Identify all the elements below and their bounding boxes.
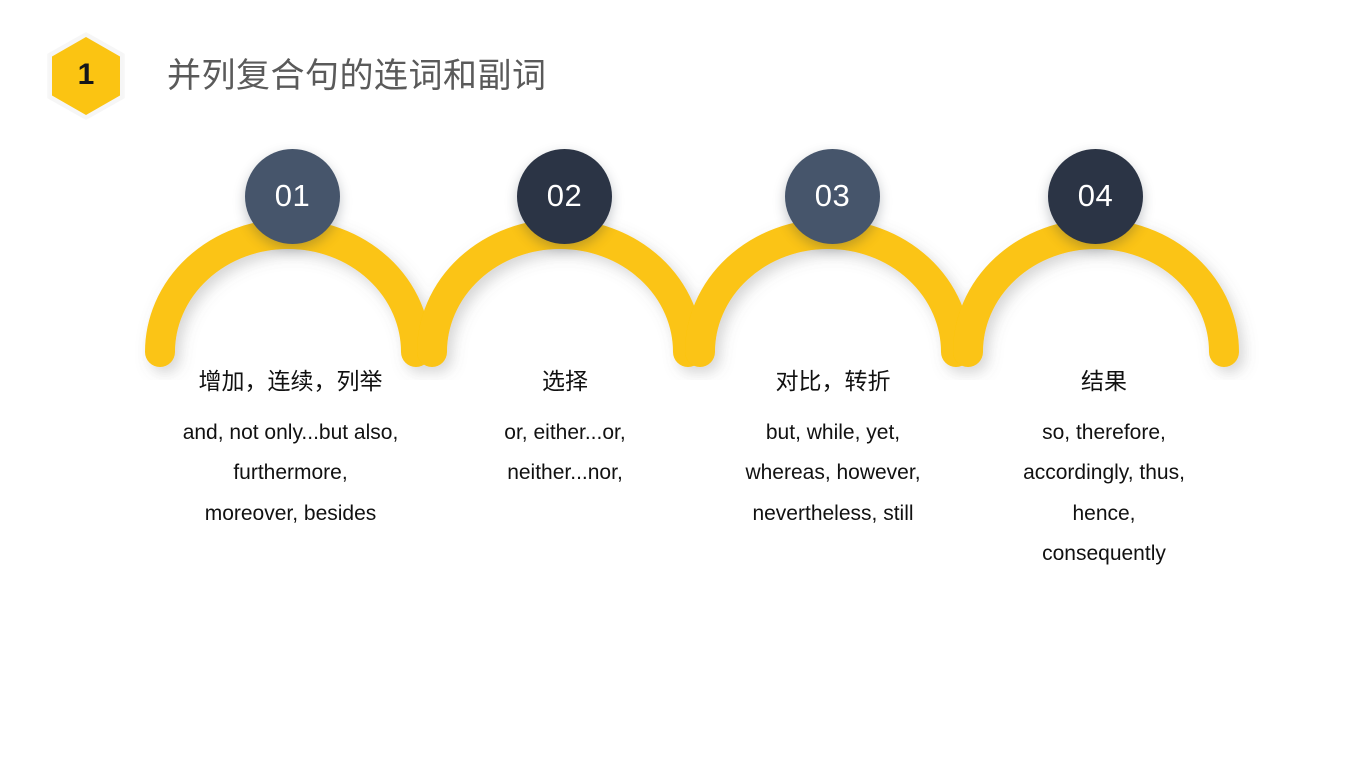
- step-heading-1: 增加，连续，列举: [148, 366, 433, 397]
- step-heading-2: 选择: [440, 366, 690, 397]
- step-body-2: or, either...or,neither...nor,: [440, 413, 690, 494]
- text-line: accordingly, thus,: [979, 453, 1229, 493]
- step-number-03: 03: [815, 180, 850, 213]
- page-title: 并列复合句的连词和副词: [167, 56, 547, 97]
- step-number-02: 02: [547, 180, 582, 213]
- step-circle-01[interactable]: 01: [245, 149, 340, 244]
- arch-path-3: [700, 234, 956, 352]
- text-line: hence,: [979, 494, 1229, 534]
- text-line: but, while, yet,: [708, 413, 958, 453]
- section-number-badge: 1: [47, 32, 125, 120]
- arch-path-2: [432, 234, 688, 352]
- text-line: neither...nor,: [440, 453, 690, 493]
- step-body-1: and, not only...but also,furthermore,mor…: [148, 413, 433, 534]
- step-column-3: 对比，转折 but, while, yet,whereas, however,n…: [708, 366, 958, 534]
- text-line: so, therefore,: [979, 413, 1229, 453]
- step-heading-3: 对比，转折: [708, 366, 958, 397]
- step-number-01: 01: [275, 180, 310, 213]
- slide-header: 1 并列复合句的连词和副词: [0, 0, 1360, 130]
- text-line: and, not only...but also,: [148, 413, 433, 453]
- text-line: nevertheless, still: [708, 494, 958, 534]
- step-column-2: 选择 or, either...or,neither...nor,: [440, 366, 690, 494]
- text-line: whereas, however,: [708, 453, 958, 493]
- step-body-3: but, while, yet,whereas, however,neverth…: [708, 413, 958, 534]
- step-body-4: so, therefore,accordingly, thus,hence,co…: [979, 413, 1229, 574]
- badge-number-label: 1: [78, 60, 95, 92]
- text-line: moreover, besides: [148, 494, 433, 534]
- step-heading-4: 结果: [979, 366, 1229, 397]
- step-circle-04[interactable]: 04: [1048, 149, 1143, 244]
- text-line: consequently: [979, 534, 1229, 574]
- text-line: or, either...or,: [440, 413, 690, 453]
- step-circle-02[interactable]: 02: [517, 149, 612, 244]
- arch-path-1: [160, 234, 416, 352]
- slide-root: 1 并列复合句的连词和副词 01 02 03 04: [0, 0, 1360, 765]
- text-line: furthermore,: [148, 453, 433, 493]
- step-circle-03[interactable]: 03: [785, 149, 880, 244]
- step-number-04: 04: [1078, 180, 1113, 213]
- step-column-1: 增加，连续，列举 and, not only...but also,furthe…: [148, 366, 433, 534]
- step-column-4: 结果 so, therefore,accordingly, thus,hence…: [979, 366, 1229, 574]
- arch-diagram: [0, 130, 1360, 380]
- arch-path-4: [968, 234, 1224, 352]
